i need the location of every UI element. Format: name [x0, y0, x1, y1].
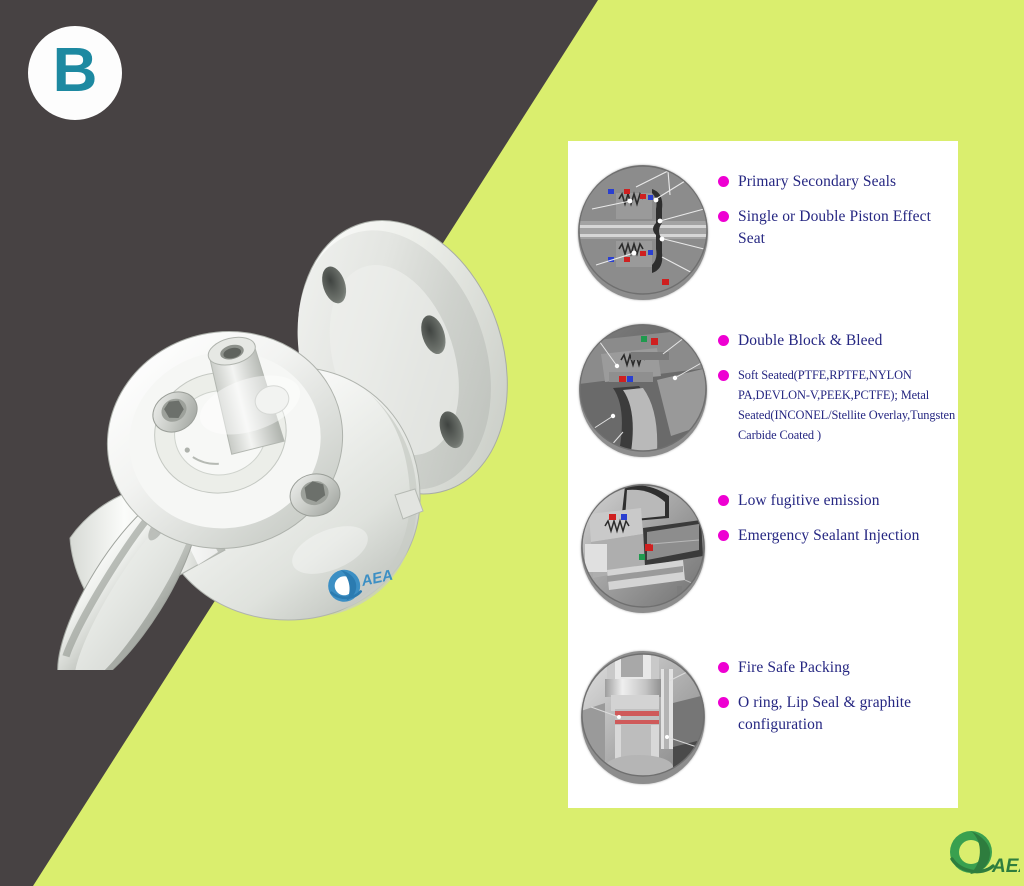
bullet-dot-icon: [718, 662, 729, 673]
sealant-injection-cutaway-diagram: [581, 484, 705, 613]
bullet-dot-icon: [718, 370, 729, 381]
feature-thumbnail-wrap: [568, 484, 718, 613]
slide-letter-badge: B: [28, 26, 122, 120]
feature-text: Soft Seated(PTFE,RPTFE,NYLON PA,DEVLON-V…: [738, 365, 958, 445]
feature-row: Fire Safe Packing O ring, Lip Seal & gra…: [568, 651, 958, 784]
feature-text: Double Block & Bleed: [738, 330, 883, 352]
list-item: Primary Secondary Seals: [718, 171, 958, 193]
feature-bullets: Double Block & Bleed Soft Seated(PTFE,RP…: [718, 324, 958, 458]
feature-thumbnail-wrap: [568, 324, 718, 457]
product-photo-valve: AEA: [10, 150, 570, 670]
feature-text: Low fugitive emission: [738, 490, 880, 512]
feature-thumbnail-wrap: [568, 651, 718, 784]
feature-row: Primary Secondary Seals Single or Double…: [568, 165, 958, 300]
badge-letter: B: [53, 40, 98, 102]
seat-and-seal-cutaway-diagram: [578, 165, 708, 300]
feature-bullets: Fire Safe Packing O ring, Lip Seal & gra…: [718, 651, 958, 749]
list-item: Fire Safe Packing: [718, 657, 958, 679]
feature-text: Fire Safe Packing: [738, 657, 850, 679]
bullet-dot-icon: [718, 530, 729, 541]
list-item: Soft Seated(PTFE,RPTFE,NYLON PA,DEVLON-V…: [718, 365, 958, 445]
stem-packing-cutaway-diagram: [581, 651, 705, 784]
slide-canvas: B: [0, 0, 1024, 886]
list-item: Low fugitive emission: [718, 490, 958, 512]
bullet-dot-icon: [718, 176, 729, 187]
feature-bullets: Low fugitive emission Emergency Sealant …: [718, 484, 958, 560]
feature-text: Single or Double Piston Effect Seat: [738, 206, 958, 250]
bullet-dot-icon: [718, 335, 729, 346]
bullet-dot-icon: [718, 697, 729, 708]
double-block-and-bleed-cutaway-diagram: [579, 324, 707, 457]
features-card: Primary Secondary Seals Single or Double…: [568, 141, 958, 808]
list-item: Emergency Sealant Injection: [718, 525, 958, 547]
feature-text: Primary Secondary Seals: [738, 171, 896, 193]
list-item: Single or Double Piston Effect Seat: [718, 206, 958, 250]
bullet-dot-icon: [718, 495, 729, 506]
aea-corner-logo-text: AEA: [991, 856, 1020, 877]
feature-text: Emergency Sealant Injection: [738, 525, 919, 547]
aea-corner-logo: AEA: [948, 828, 1020, 880]
feature-thumbnail-wrap: [568, 165, 718, 300]
list-item: O ring, Lip Seal & graphite configuratio…: [718, 692, 958, 736]
feature-text: O ring, Lip Seal & graphite configuratio…: [738, 692, 958, 736]
feature-row: Low fugitive emission Emergency Sealant …: [568, 484, 958, 613]
feature-row: Double Block & Bleed Soft Seated(PTFE,RP…: [568, 324, 958, 458]
bullet-dot-icon: [718, 211, 729, 222]
feature-bullets: Primary Secondary Seals Single or Double…: [718, 165, 958, 263]
list-item: Double Block & Bleed: [718, 330, 958, 352]
